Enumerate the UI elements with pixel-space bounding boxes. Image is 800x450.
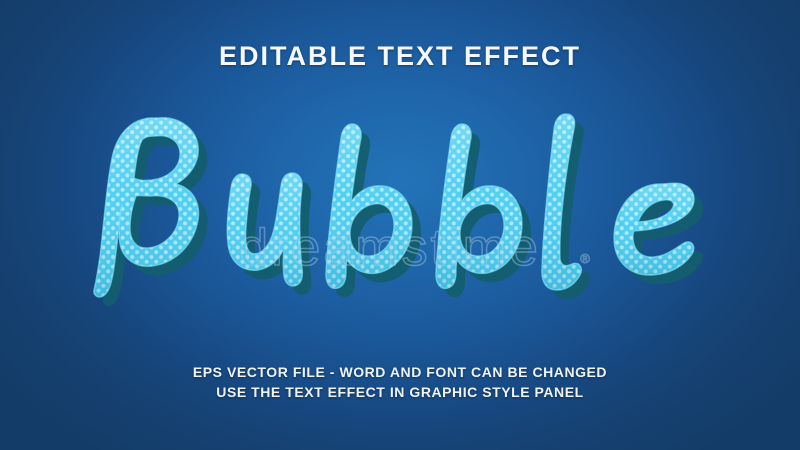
footer-text-block: EPS VECTOR FILE - WORD AND FONT CAN BE C…	[0, 362, 800, 402]
bubble-word-artwork	[0, 96, 800, 316]
headline-editable-text-effect: EDITABLE TEXT EFFECT	[0, 41, 800, 71]
footer-line-2: USE THE TEXT EFFECT IN GRAPHIC STYLE PAN…	[0, 382, 800, 402]
footer-line-1: EPS VECTOR FILE - WORD AND FONT CAN BE C…	[0, 362, 800, 382]
poster-canvas: EDITABLE TEXT EFFECT	[0, 0, 800, 450]
